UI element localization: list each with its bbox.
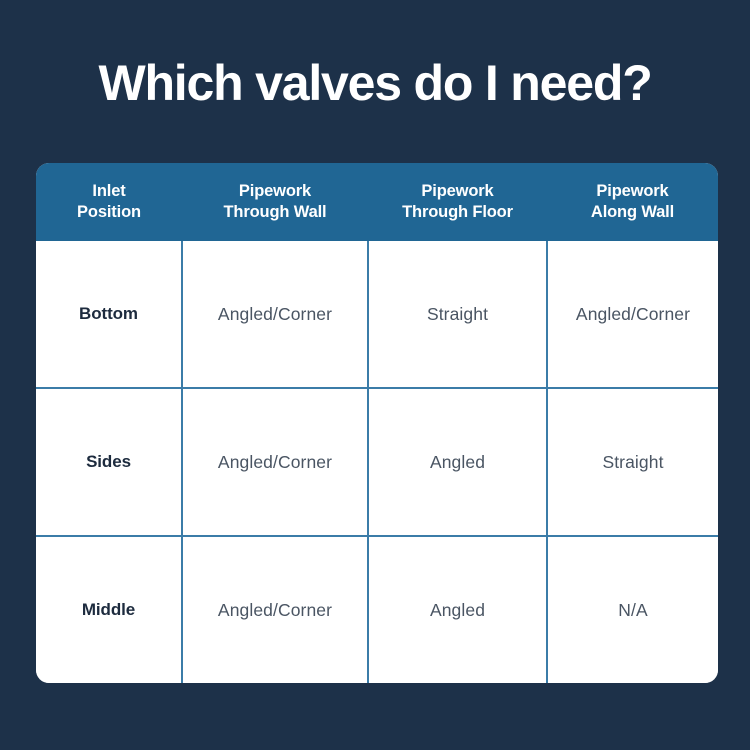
row-label-middle: Middle (36, 536, 182, 683)
column-header-line1: Pipework (239, 182, 311, 200)
table-row: Middle Angled/Corner Angled N/A (36, 536, 718, 683)
column-header-pipework-through-wall: Pipework Through Wall (182, 163, 368, 241)
valve-selection-table: Inlet Position Pipework Through Wall Pip… (36, 163, 718, 683)
row-label-sides: Sides (36, 388, 182, 535)
column-header-line2: Through Wall (224, 203, 327, 221)
cell-middle-along-wall: N/A (547, 536, 718, 683)
table-row: Sides Angled/Corner Angled Straight (36, 388, 718, 535)
cell-sides-through-floor: Angled (368, 388, 547, 535)
column-header-pipework-along-wall: Pipework Along Wall (547, 163, 718, 241)
table-body: Bottom Angled/Corner Straight Angled/Cor… (36, 241, 718, 683)
column-header-line1: Pipework (596, 182, 668, 200)
column-header-inlet-position: Inlet Position (36, 163, 182, 241)
valve-selection-table-card: Inlet Position Pipework Through Wall Pip… (36, 163, 718, 683)
column-header-line2: Position (77, 203, 141, 221)
column-header-line1: Pipework (421, 182, 493, 200)
cell-sides-through-wall: Angled/Corner (182, 388, 368, 535)
cell-middle-through-floor: Angled (368, 536, 547, 683)
column-header-pipework-through-floor: Pipework Through Floor (368, 163, 547, 241)
table-row: Bottom Angled/Corner Straight Angled/Cor… (36, 241, 718, 388)
table-header: Inlet Position Pipework Through Wall Pip… (36, 163, 718, 241)
column-header-line1: Inlet (92, 182, 125, 200)
cell-sides-along-wall: Straight (547, 388, 718, 535)
cell-bottom-along-wall: Angled/Corner (547, 241, 718, 388)
page-root: Which valves do I need? Inlet Position P… (0, 0, 750, 750)
row-label-bottom: Bottom (36, 241, 182, 388)
column-header-line2: Along Wall (591, 203, 674, 221)
table-header-row: Inlet Position Pipework Through Wall Pip… (36, 163, 718, 241)
cell-bottom-through-wall: Angled/Corner (182, 241, 368, 388)
page-title: Which valves do I need? (0, 52, 750, 114)
column-header-line2: Through Floor (402, 203, 513, 221)
cell-middle-through-wall: Angled/Corner (182, 536, 368, 683)
cell-bottom-through-floor: Straight (368, 241, 547, 388)
